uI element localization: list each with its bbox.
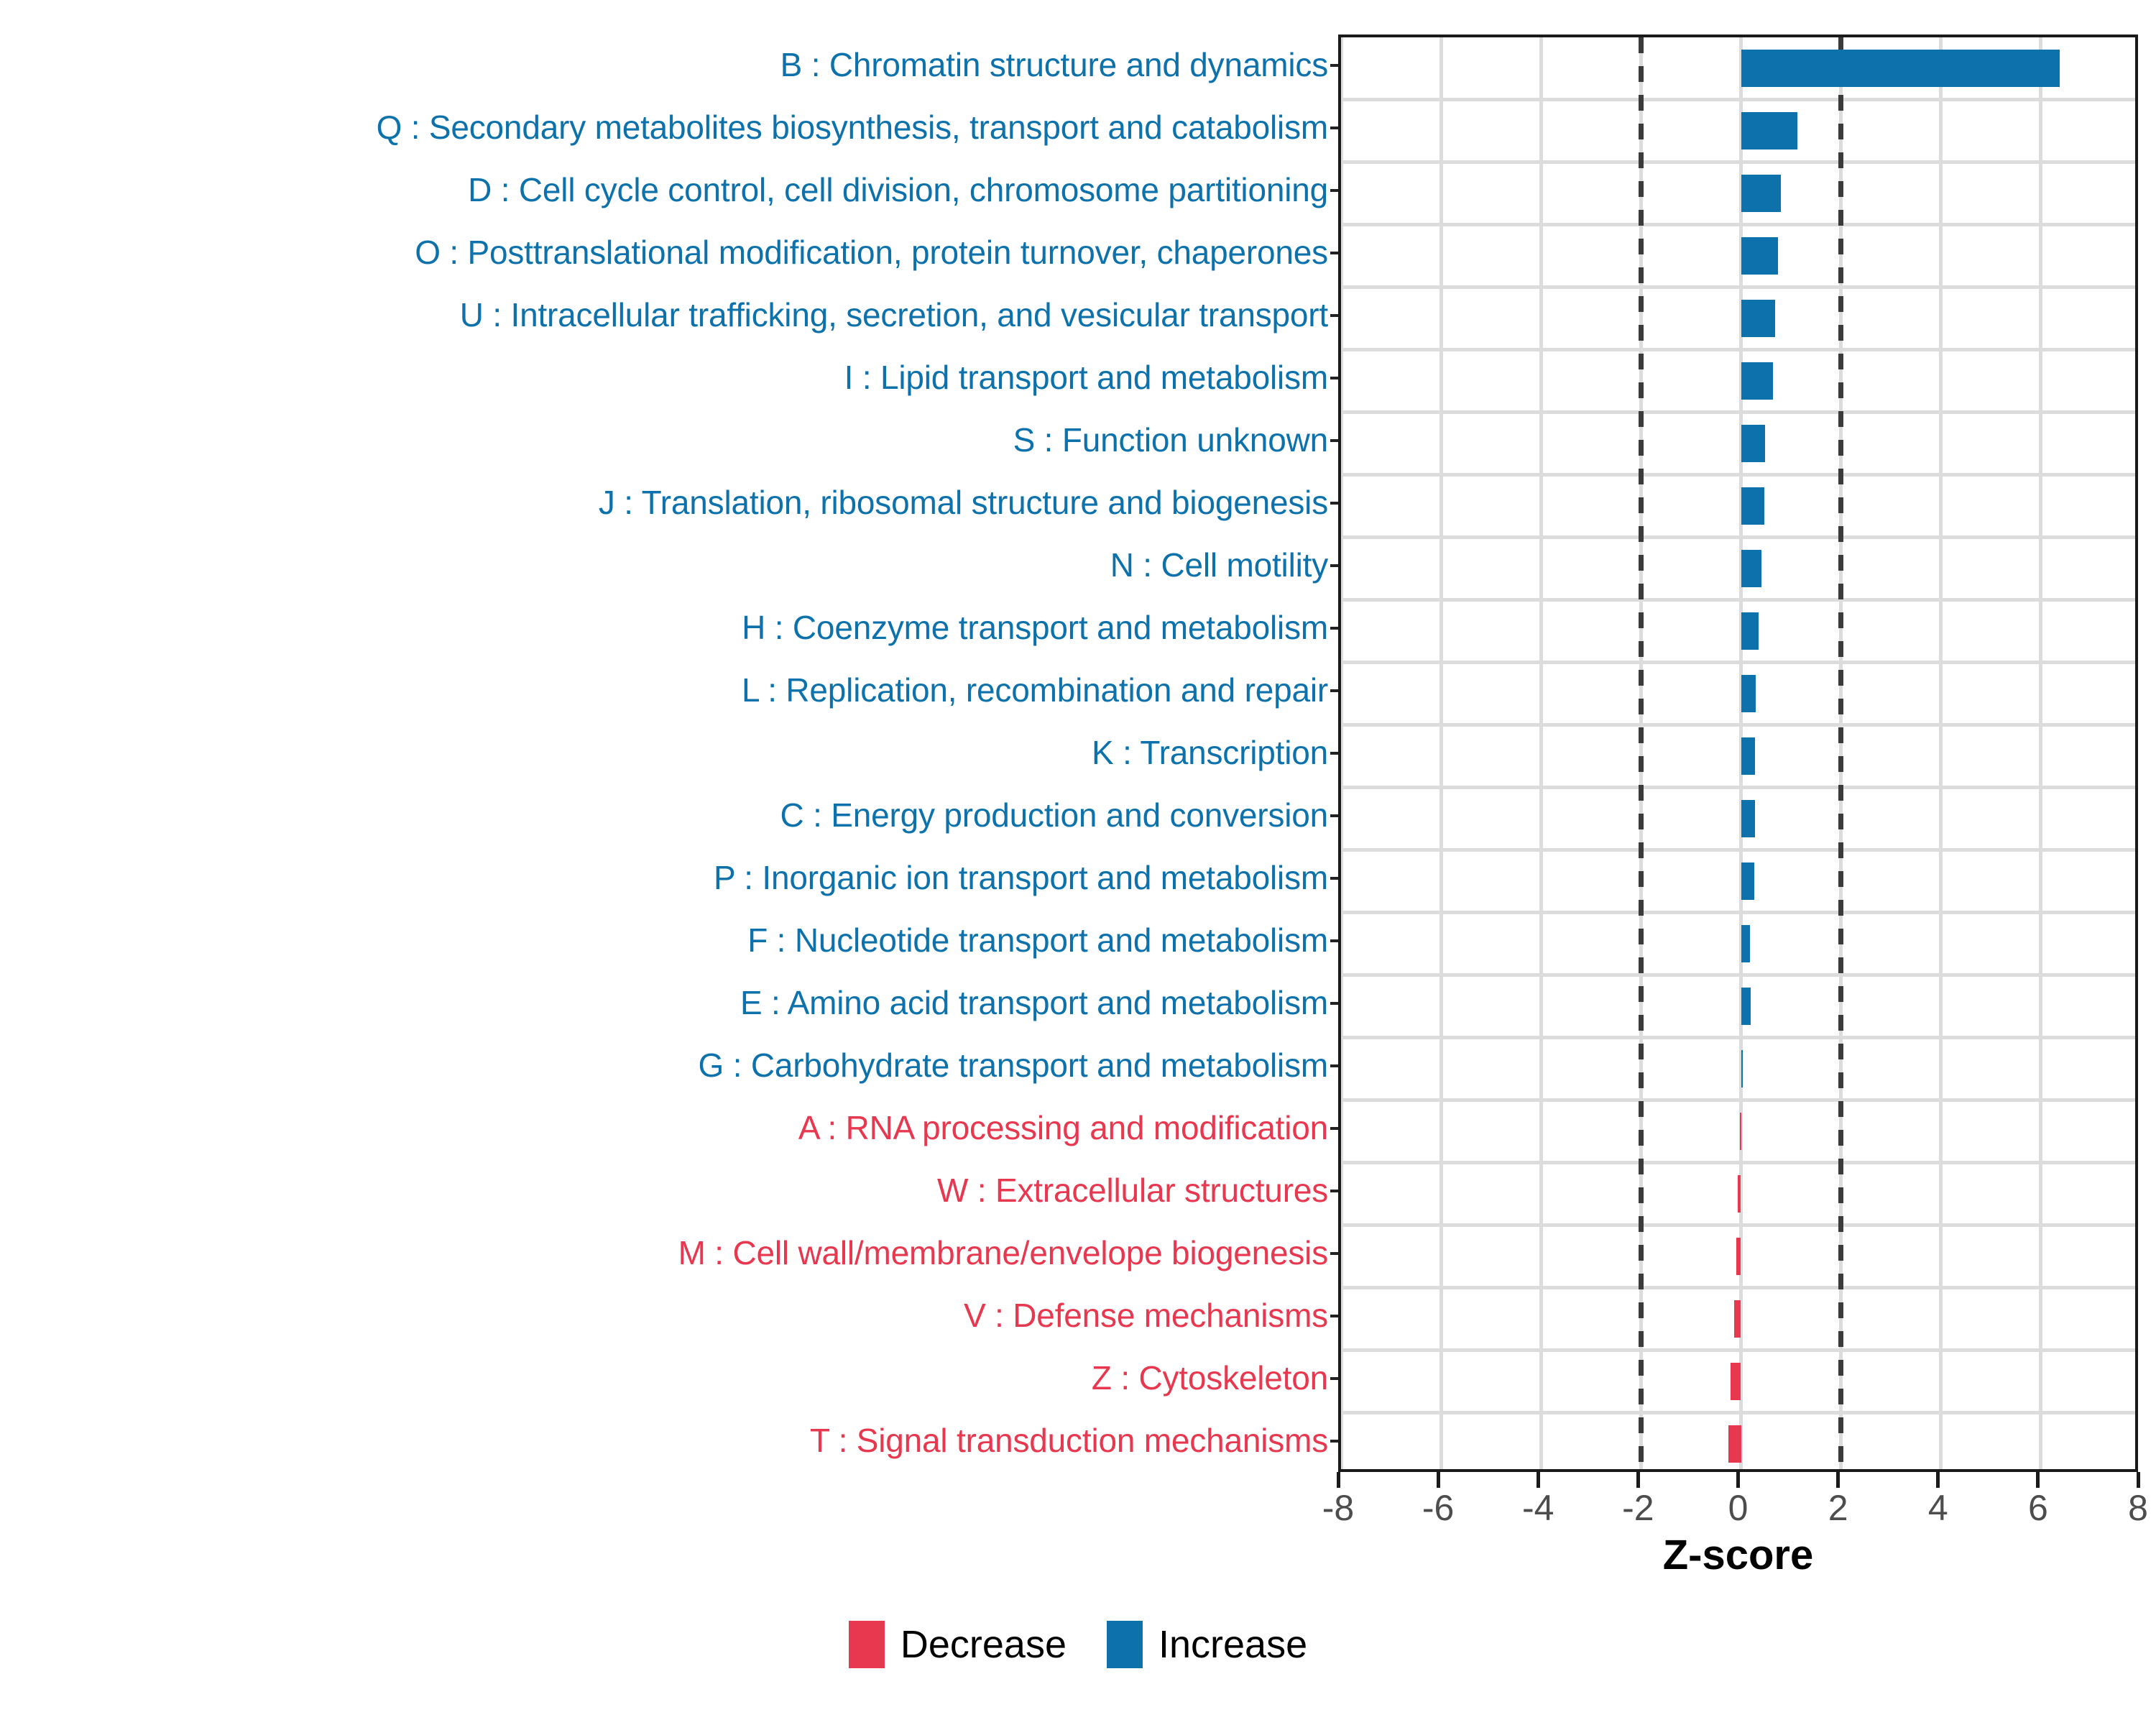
category-label: K : Transcription — [1092, 736, 1328, 769]
horizontal-gridline — [1341, 786, 2135, 789]
x-axis-tick-label: -4 — [1522, 1488, 1554, 1528]
horizontal-gridline — [1341, 98, 2135, 101]
vertical-gridline — [1939, 37, 1943, 1469]
horizontal-gridline — [1341, 535, 2135, 539]
x-axis-tick — [2137, 1472, 2140, 1488]
horizontal-gridline — [1341, 223, 2135, 226]
vertical-gridline — [2039, 37, 2042, 1469]
category-label: F : Nucleotide transport and metabolism — [747, 924, 1328, 957]
bar[interactable] — [1741, 737, 1755, 775]
horizontal-gridline — [1341, 1286, 2135, 1289]
x-axis-tick-label: 8 — [2128, 1488, 2148, 1528]
bar[interactable] — [1740, 1113, 1741, 1150]
x-axis-tick — [1936, 1472, 1940, 1488]
category-label: O : Posttranslational modification, prot… — [415, 236, 1328, 269]
bar[interactable] — [1741, 925, 1751, 962]
x-axis-tick-label: 4 — [1928, 1488, 1948, 1528]
bar[interactable] — [1741, 675, 1756, 712]
category-label: J : Translation, ribosomal structure and… — [599, 486, 1328, 519]
category-label: N : Cell motility — [1110, 548, 1328, 581]
horizontal-gridline — [1341, 1098, 2135, 1102]
x-axis-title: Z-score — [1338, 1531, 2138, 1579]
category-label: A : RNA processing and modification — [798, 1111, 1328, 1144]
category-label: L : Replication, recombination and repai… — [742, 673, 1328, 707]
category-label: H : Coenzyme transport and metabolism — [742, 611, 1328, 644]
category-label: W : Extracellular structures — [937, 1174, 1328, 1207]
bar[interactable] — [1728, 1425, 1741, 1463]
category-label: V : Defense mechanisms — [964, 1299, 1328, 1332]
x-axis-tick-label: -8 — [1322, 1488, 1354, 1528]
bar[interactable] — [1741, 50, 2060, 87]
horizontal-gridline — [1341, 410, 2135, 414]
reference-line--2 — [1639, 37, 1644, 1469]
horizontal-gridline — [1341, 598, 2135, 602]
horizontal-gridline — [1341, 848, 2135, 852]
category-label: I : Lipid transport and metabolism — [844, 361, 1328, 394]
bar[interactable] — [1741, 800, 1755, 837]
category-label: B : Chromatin structure and dynamics — [780, 48, 1328, 81]
horizontal-gridline — [1341, 160, 2135, 164]
x-axis-tick — [2036, 1472, 2040, 1488]
bar[interactable] — [1741, 487, 1765, 525]
bar[interactable] — [1741, 362, 1774, 400]
x-axis-tick — [1736, 1472, 1740, 1488]
bar[interactable] — [1741, 862, 1754, 900]
x-axis-tick — [1437, 1472, 1440, 1488]
legend: DecreaseIncrease — [0, 1621, 2156, 1668]
x-axis-tick-label: -6 — [1422, 1488, 1454, 1528]
bar[interactable] — [1741, 112, 1798, 149]
horizontal-gridline — [1341, 661, 2135, 664]
horizontal-gridline — [1341, 1348, 2135, 1352]
category-label: Z : Cytoskeleton — [1092, 1361, 1328, 1394]
bar[interactable] — [1741, 237, 1778, 275]
bar[interactable] — [1741, 175, 1782, 212]
horizontal-gridline — [1341, 348, 2135, 351]
x-axis-tick-label: 0 — [1728, 1488, 1749, 1528]
legend-label: Increase — [1158, 1623, 1307, 1666]
category-label: T : Signal transduction mechanisms — [810, 1424, 1328, 1457]
bar[interactable] — [1741, 550, 1762, 587]
category-label: D : Cell cycle control, cell division, c… — [468, 173, 1328, 206]
horizontal-gridline — [1341, 1411, 2135, 1414]
bar[interactable] — [1731, 1363, 1741, 1400]
x-axis-tick — [1537, 1472, 1540, 1488]
horizontal-gridline — [1341, 473, 2135, 477]
bar[interactable] — [1738, 1175, 1741, 1213]
bar[interactable] — [1741, 612, 1759, 650]
horizontal-gridline — [1341, 911, 2135, 914]
legend-item-decrease[interactable]: Decrease — [849, 1621, 1067, 1668]
legend-item-increase[interactable]: Increase — [1107, 1621, 1307, 1668]
category-label: C : Energy production and conversion — [780, 799, 1328, 832]
horizontal-gridline — [1341, 1161, 2135, 1164]
vertical-gridline — [1539, 37, 1543, 1469]
category-label: G : Carbohydrate transport and metabolis… — [699, 1049, 1328, 1082]
horizontal-gridline — [1341, 1223, 2135, 1227]
category-label: P : Inorganic ion transport and metaboli… — [714, 861, 1328, 894]
legend-swatch-icon — [849, 1621, 885, 1668]
x-axis-tick-label: -2 — [1622, 1488, 1654, 1528]
cog-zscore-bar-chart: B : Chromatin structure and dynamicsQ : … — [0, 0, 2156, 1725]
horizontal-gridline — [1341, 1036, 2135, 1039]
x-axis-tick-label: 2 — [1828, 1488, 1848, 1528]
category-label: S : Function unknown — [1013, 423, 1328, 456]
vertical-gridline — [1439, 37, 1443, 1469]
bar[interactable] — [1741, 988, 1751, 1025]
legend-swatch-icon — [1107, 1621, 1143, 1668]
x-axis-tick-label: 6 — [2028, 1488, 2048, 1528]
horizontal-gridline — [1341, 973, 2135, 977]
category-axis-labels: B : Chromatin structure and dynamicsQ : … — [0, 34, 1338, 1472]
bar[interactable] — [1741, 1050, 1743, 1087]
category-label: E : Amino acid transport and metabolism — [740, 986, 1328, 1019]
x-axis-tick — [1836, 1472, 1840, 1488]
reference-line-2 — [1838, 37, 1843, 1469]
horizontal-gridline — [1341, 285, 2135, 289]
horizontal-gridline — [1341, 723, 2135, 727]
x-axis-tick — [1337, 1472, 1340, 1488]
bar[interactable] — [1741, 425, 1765, 462]
bar[interactable] — [1741, 300, 1775, 337]
bar[interactable] — [1736, 1238, 1741, 1275]
vertical-gridline — [1340, 37, 1343, 1469]
plot-panel — [1338, 34, 2138, 1472]
category-label: Q : Secondary metabolites biosynthesis, … — [377, 111, 1328, 144]
category-label: M : Cell wall/membrane/envelope biogenes… — [678, 1236, 1328, 1269]
x-axis-tick — [1636, 1472, 1640, 1488]
legend-label: Decrease — [900, 1623, 1067, 1666]
category-label: U : Intracellular trafficking, secretion… — [460, 298, 1328, 331]
bar[interactable] — [1734, 1300, 1741, 1338]
